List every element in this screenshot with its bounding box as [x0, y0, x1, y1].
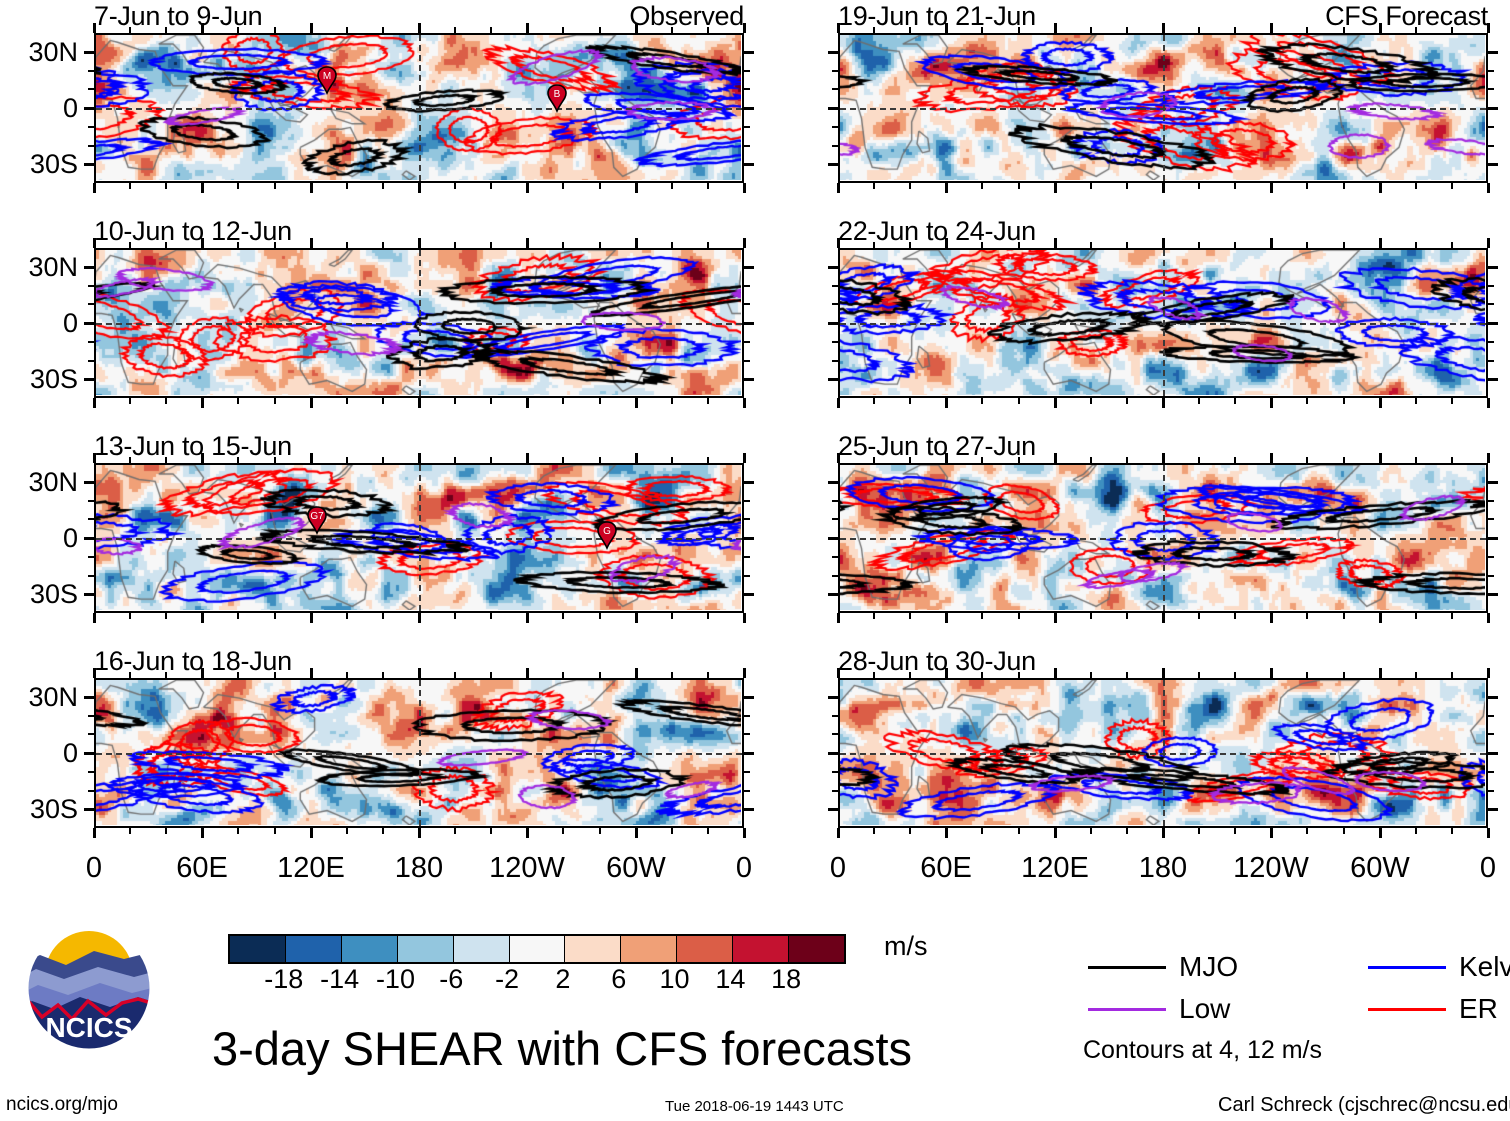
x-tick [1343, 613, 1345, 619]
x-tick [707, 828, 709, 834]
y-tick [832, 303, 838, 305]
x-tick [1054, 668, 1057, 678]
x-tick [671, 27, 673, 33]
x-tick [1090, 183, 1092, 189]
colorbar-tick-label: 18 [741, 966, 831, 993]
x-tick [1415, 398, 1417, 404]
x-tick [1270, 453, 1273, 463]
x-tick [1343, 672, 1345, 678]
dateline-marker [419, 465, 421, 611]
y-tick [828, 593, 838, 596]
x-tick [1487, 668, 1490, 678]
x-tick [599, 828, 601, 834]
y-tick [84, 808, 94, 811]
legend-line-swatch [1088, 1008, 1166, 1011]
x-tick [909, 828, 911, 834]
x-tick [635, 828, 638, 838]
x-tick [1306, 183, 1308, 189]
x-tick [1090, 828, 1092, 834]
storm-marker: M [314, 65, 340, 95]
y-tick [832, 575, 838, 577]
x-tick [671, 398, 673, 404]
x-tick [1234, 183, 1236, 189]
x-tick [945, 668, 948, 678]
map-panel: G7G [94, 463, 744, 613]
x-tick [599, 398, 601, 404]
y-tick [84, 51, 94, 54]
x-tick [1162, 398, 1165, 408]
x-tick [981, 672, 983, 678]
x-tick [1487, 23, 1490, 33]
colorbar-swatch [565, 936, 621, 962]
y-axis-label: 30S [0, 366, 78, 393]
x-tick [1234, 27, 1236, 33]
x-tick [1270, 398, 1273, 408]
x-tick [382, 398, 384, 404]
ncics-logo[interactable]: NCICS [14, 925, 164, 1055]
x-tick [129, 828, 131, 834]
x-tick [346, 828, 348, 834]
x-tick [1415, 183, 1417, 189]
x-tick [382, 242, 384, 248]
x-tick [1451, 672, 1453, 678]
x-tick [201, 183, 204, 193]
y-tick [84, 266, 94, 269]
x-tick [1018, 828, 1020, 834]
x-tick [1270, 238, 1273, 248]
y-tick [744, 322, 754, 325]
legend-item: ER [1368, 995, 1498, 1023]
x-tick [837, 398, 840, 408]
y-tick [744, 360, 750, 362]
x-tick [1379, 183, 1382, 193]
x-tick [201, 23, 204, 33]
x-tick [707, 672, 709, 678]
x-tick [599, 242, 601, 248]
x-tick [1379, 23, 1382, 33]
x-tick [743, 613, 746, 623]
y-tick [828, 107, 838, 110]
y-tick [744, 593, 754, 596]
x-tick [93, 183, 96, 193]
x-tick [1162, 238, 1165, 248]
x-tick [981, 183, 983, 189]
y-axis-label: 0 [0, 740, 78, 767]
y-tick [832, 341, 838, 343]
x-tick [635, 613, 638, 623]
x-tick [310, 453, 313, 463]
x-tick [1343, 27, 1345, 33]
y-tick [88, 771, 94, 773]
x-tick [93, 828, 96, 838]
x-tick [237, 183, 239, 189]
footer-timestamp: Tue 2018-06-19 1443 UTC [665, 1098, 844, 1115]
x-tick [981, 613, 983, 619]
x-tick [129, 183, 131, 189]
x-tick [165, 457, 167, 463]
x-tick [310, 23, 313, 33]
x-tick [945, 183, 948, 193]
x-tick [526, 453, 529, 463]
x-tick [526, 828, 529, 838]
y-tick [1488, 771, 1494, 773]
x-tick [945, 453, 948, 463]
x-tick [1198, 398, 1200, 404]
x-tick [382, 613, 384, 619]
y-tick [88, 518, 94, 520]
y-tick [832, 715, 838, 717]
y-tick [1488, 696, 1498, 699]
legend-item: MJO [1088, 953, 1238, 981]
x-tick [274, 613, 276, 619]
x-tick [1198, 457, 1200, 463]
legend-label: MJO [1179, 953, 1238, 981]
panel-title: 13-Jun to 15-Jun [94, 433, 292, 460]
x-tick [129, 242, 131, 248]
y-axis-label: 30N [0, 39, 78, 66]
x-tick [310, 828, 313, 838]
x-tick [981, 242, 983, 248]
x-tick [1451, 27, 1453, 33]
x-axis-label: 0 [1418, 854, 1510, 883]
y-tick [828, 51, 838, 54]
y-axis-label: 30S [0, 581, 78, 608]
y-tick [84, 378, 94, 381]
svg-text:G: G [603, 526, 611, 537]
x-tick [274, 398, 276, 404]
x-tick [526, 23, 529, 33]
x-tick [837, 238, 840, 248]
x-tick [1306, 242, 1308, 248]
y-tick [88, 88, 94, 90]
map-panel [94, 248, 744, 398]
x-tick [129, 613, 131, 619]
x-tick [454, 457, 456, 463]
y-tick [88, 341, 94, 343]
x-tick [1234, 398, 1236, 404]
x-tick [1054, 613, 1057, 623]
x-tick [490, 613, 492, 619]
x-tick [1234, 613, 1236, 619]
ncics-logo-text: NCICS [45, 1012, 132, 1043]
x-tick [129, 457, 131, 463]
x-tick [93, 613, 96, 623]
colorbar-units-label: m/s [884, 933, 928, 960]
x-tick [1126, 242, 1128, 248]
x-tick [454, 183, 456, 189]
x-tick [1090, 398, 1092, 404]
x-tick [1451, 457, 1453, 463]
map-panel [838, 248, 1488, 398]
y-tick [828, 322, 838, 325]
x-tick [1487, 453, 1490, 463]
legend-label: ER [1459, 995, 1498, 1023]
x-tick [346, 672, 348, 678]
x-tick [945, 828, 948, 838]
x-tick [1054, 23, 1057, 33]
footer-website[interactable]: ncics.org/mjo [6, 1094, 118, 1116]
x-tick [382, 457, 384, 463]
y-axis-label: 0 [0, 310, 78, 337]
legend-item: Low [1088, 995, 1230, 1023]
x-tick [873, 27, 875, 33]
x-tick [1198, 242, 1200, 248]
y-tick [84, 752, 94, 755]
y-tick [88, 360, 94, 362]
y-tick [1488, 88, 1494, 90]
x-tick [1162, 668, 1165, 678]
x-tick [981, 398, 983, 404]
x-tick [707, 613, 709, 619]
y-tick [88, 575, 94, 577]
x-tick [165, 183, 167, 189]
colorbar-swatch [398, 936, 454, 962]
x-tick [1306, 613, 1308, 619]
x-tick [1415, 672, 1417, 678]
x-tick [382, 183, 384, 189]
x-tick [873, 672, 875, 678]
x-tick [237, 398, 239, 404]
x-tick [165, 242, 167, 248]
svg-text:M: M [323, 71, 331, 82]
x-tick [1126, 828, 1128, 834]
x-tick [1270, 183, 1273, 193]
x-tick [274, 672, 276, 678]
x-tick [1379, 453, 1382, 463]
x-tick [1162, 453, 1165, 463]
y-tick [744, 752, 754, 755]
x-tick [1198, 828, 1200, 834]
dateline-marker [419, 680, 421, 826]
x-tick [1054, 238, 1057, 248]
legend-item: Kelvin x2 [1368, 953, 1510, 981]
x-tick [490, 242, 492, 248]
x-tick [873, 242, 875, 248]
y-tick [832, 126, 838, 128]
y-tick [832, 790, 838, 792]
x-tick [454, 27, 456, 33]
x-tick [1018, 242, 1020, 248]
x-tick [165, 613, 167, 619]
y-tick [88, 126, 94, 128]
y-tick [832, 145, 838, 147]
x-tick [1054, 828, 1057, 838]
colorbar-swatch [286, 936, 342, 962]
x-tick [1018, 27, 1020, 33]
x-tick [274, 27, 276, 33]
y-tick [1488, 341, 1494, 343]
x-tick [1379, 668, 1382, 678]
y-tick [84, 322, 94, 325]
x-tick [237, 242, 239, 248]
y-tick [744, 107, 754, 110]
x-tick [837, 668, 840, 678]
x-tick [562, 457, 564, 463]
y-tick [1488, 593, 1498, 596]
y-tick [744, 790, 750, 792]
y-tick [1488, 285, 1494, 287]
x-tick [1090, 613, 1092, 619]
x-tick [1451, 183, 1453, 189]
colorbar-swatch [342, 936, 398, 962]
x-tick [1270, 668, 1273, 678]
y-tick [84, 537, 94, 540]
colorbar-swatch [230, 936, 286, 962]
x-tick [671, 672, 673, 678]
y-tick [1488, 715, 1494, 717]
x-tick [1054, 453, 1057, 463]
y-tick [84, 593, 94, 596]
colorbar-swatch [677, 936, 733, 962]
colorbar [228, 934, 846, 964]
x-tick [1415, 613, 1417, 619]
map-panel [838, 463, 1488, 613]
x-tick [837, 183, 840, 193]
x-tick [526, 238, 529, 248]
y-tick [88, 733, 94, 735]
y-tick [828, 378, 838, 381]
colorbar-swatch [454, 936, 510, 962]
x-tick [837, 828, 840, 838]
dateline-marker [419, 35, 421, 181]
y-tick [1488, 518, 1494, 520]
x-tick [418, 828, 421, 838]
x-tick [201, 453, 204, 463]
y-tick [828, 808, 838, 811]
x-tick [490, 398, 492, 404]
y-tick [744, 126, 750, 128]
x-tick [873, 183, 875, 189]
x-tick [237, 672, 239, 678]
x-tick [1054, 398, 1057, 408]
x-tick [1018, 672, 1020, 678]
x-tick [1451, 613, 1453, 619]
y-tick [828, 266, 838, 269]
y-tick [744, 266, 754, 269]
x-tick [945, 238, 948, 248]
x-tick [562, 672, 564, 678]
x-tick [526, 183, 529, 193]
y-tick [1488, 303, 1494, 305]
svg-text:B: B [554, 89, 561, 100]
x-tick [1126, 398, 1128, 404]
footer-author: Carl Schreck (cjschrec@ncsu.edu) [1218, 1094, 1510, 1117]
x-tick [743, 183, 746, 193]
x-tick [310, 183, 313, 193]
x-tick [909, 457, 911, 463]
x-tick [562, 183, 564, 189]
dateline-marker [1163, 680, 1165, 826]
x-tick [599, 183, 601, 189]
x-tick [599, 613, 601, 619]
x-tick [562, 242, 564, 248]
y-tick [1488, 378, 1498, 381]
x-tick [346, 457, 348, 463]
svg-text:G7: G7 [310, 511, 324, 522]
x-tick [1270, 828, 1273, 838]
y-axis-label: 0 [0, 525, 78, 552]
y-tick [1488, 733, 1494, 735]
x-tick [129, 672, 131, 678]
x-tick [346, 398, 348, 404]
y-axis-label: 0 [0, 95, 78, 122]
y-tick [1488, 322, 1498, 325]
x-tick [418, 238, 421, 248]
x-tick [707, 398, 709, 404]
x-tick [1487, 183, 1490, 193]
x-tick [346, 27, 348, 33]
y-tick [828, 696, 838, 699]
x-tick [1234, 242, 1236, 248]
x-tick [346, 242, 348, 248]
y-tick [84, 696, 94, 699]
y-axis-label: 30N [0, 254, 78, 281]
y-tick [1488, 556, 1494, 558]
y-tick [744, 771, 750, 773]
x-tick [274, 183, 276, 189]
x-tick [454, 242, 456, 248]
x-tick [310, 398, 313, 408]
x-tick [454, 828, 456, 834]
x-tick [201, 668, 204, 678]
x-tick [1126, 27, 1128, 33]
map-panel [838, 33, 1488, 183]
x-tick [599, 457, 601, 463]
x-tick [635, 453, 638, 463]
x-tick [1018, 457, 1020, 463]
y-tick [1488, 752, 1498, 755]
x-tick [490, 457, 492, 463]
x-tick [635, 183, 638, 193]
x-tick [1198, 183, 1200, 189]
storm-marker: G [594, 520, 620, 550]
y-tick [1488, 70, 1494, 72]
y-tick [1488, 163, 1498, 166]
x-tick [418, 23, 421, 33]
legend-label: Kelvin x2 [1459, 953, 1510, 981]
x-tick [310, 238, 313, 248]
x-tick [981, 457, 983, 463]
y-tick [744, 51, 754, 54]
x-tick [1126, 183, 1128, 189]
x-tick [1379, 238, 1382, 248]
x-tick [599, 27, 601, 33]
y-tick [744, 556, 750, 558]
x-tick [1090, 27, 1092, 33]
x-tick [1234, 457, 1236, 463]
dateline-marker [1163, 250, 1165, 396]
x-tick [93, 238, 96, 248]
x-tick [165, 828, 167, 834]
x-tick [418, 668, 421, 678]
x-tick [743, 453, 746, 463]
x-tick [671, 613, 673, 619]
x-tick [165, 398, 167, 404]
y-tick [744, 518, 750, 520]
x-tick [635, 668, 638, 678]
x-tick [1379, 828, 1382, 838]
y-axis-label: 30N [0, 684, 78, 711]
y-axis-label: 30S [0, 796, 78, 823]
x-tick [562, 828, 564, 834]
y-tick [1488, 575, 1494, 577]
x-tick [526, 668, 529, 678]
legend-line-swatch [1368, 1008, 1446, 1011]
x-tick [274, 828, 276, 834]
x-tick [743, 23, 746, 33]
x-tick [454, 398, 456, 404]
y-tick [744, 70, 750, 72]
